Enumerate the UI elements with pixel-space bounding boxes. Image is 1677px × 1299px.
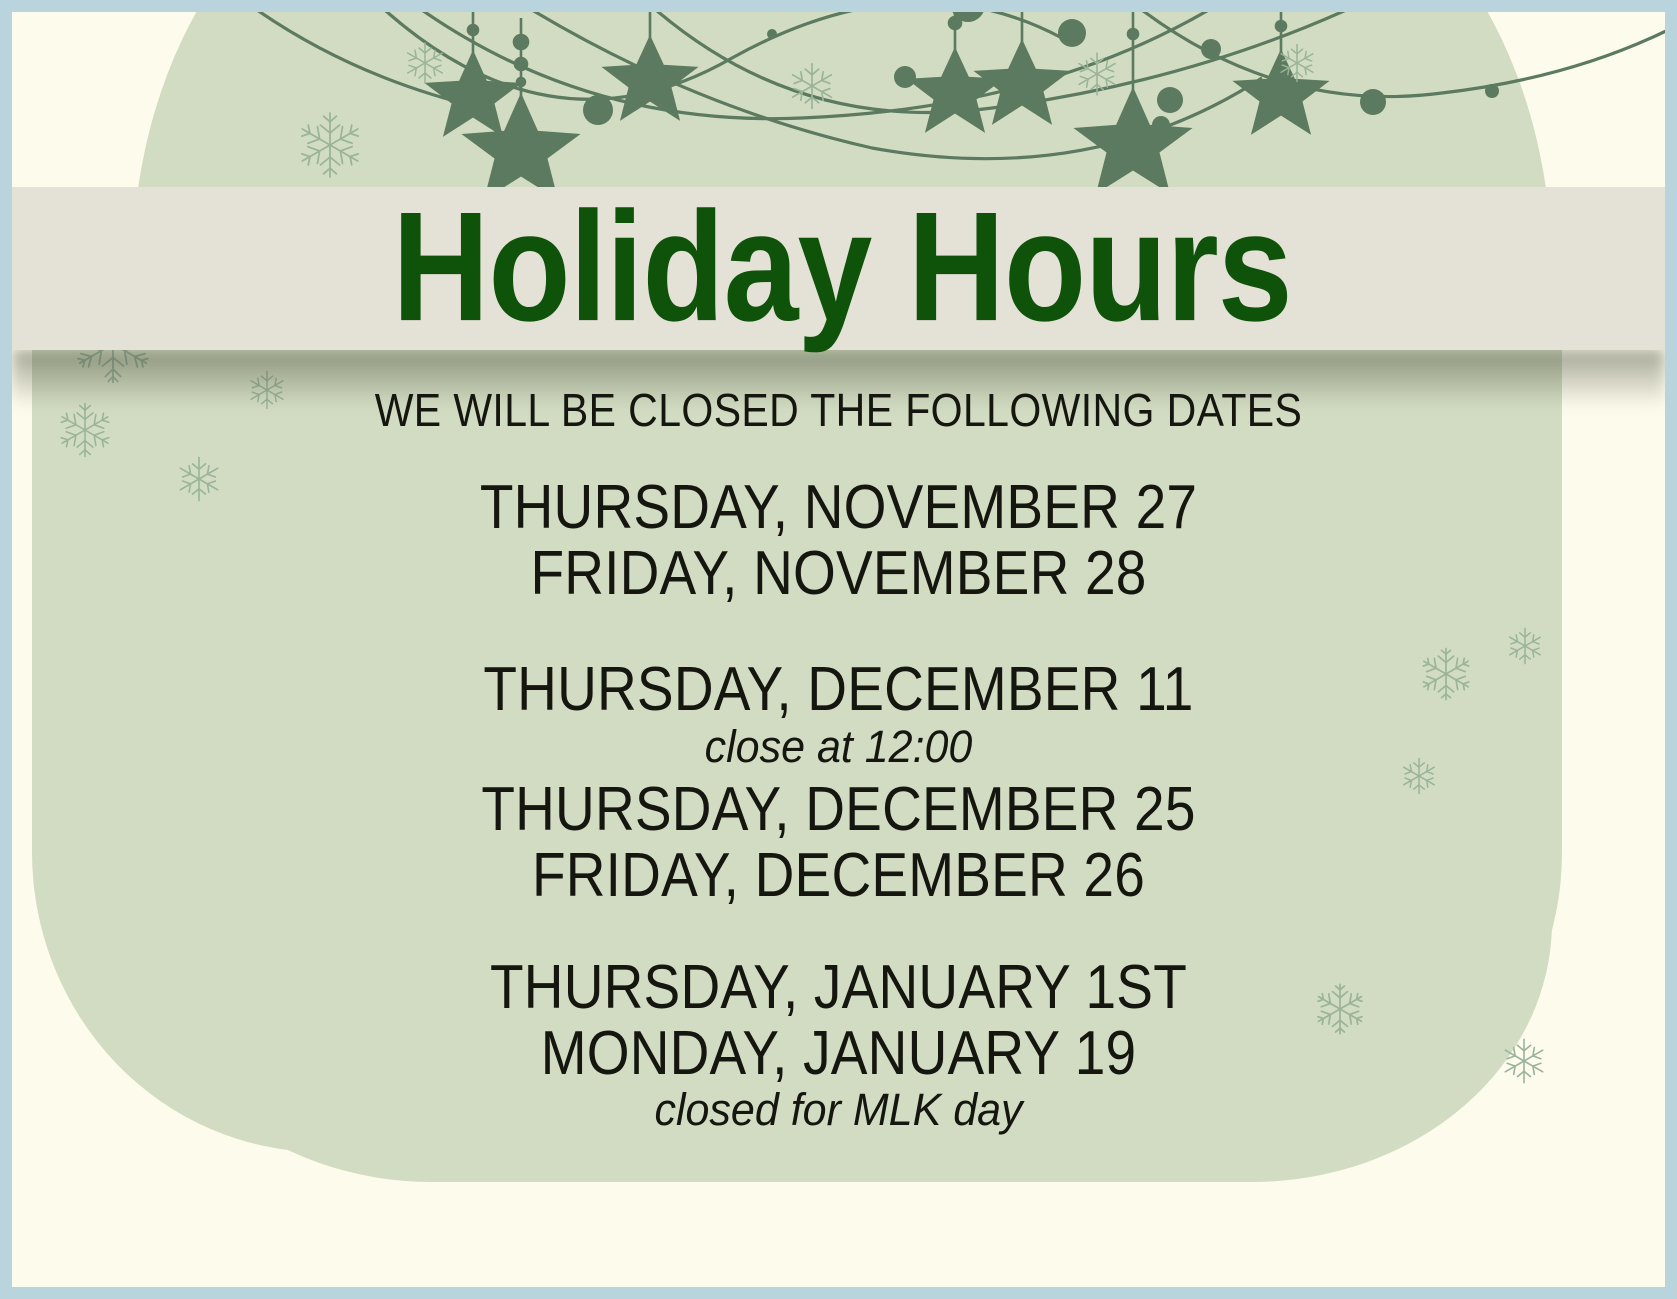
- closure-date: FRIDAY, NOVEMBER 28: [530, 541, 1146, 616]
- poster-inner-panel: Holiday Hours WE WILL BE CLOSED THE FOLL…: [12, 12, 1665, 1287]
- subheading: WE WILL BE CLOSED THE FOLLOWING DATES: [375, 384, 1303, 438]
- closure-note: close at 12:00: [705, 724, 973, 780]
- closure-date: FRIDAY, DECEMBER 26: [532, 843, 1145, 918]
- closure-note: closed for MLK day: [654, 1087, 1022, 1143]
- holiday-hours-poster: Holiday Hours WE WILL BE CLOSED THE FOLL…: [0, 0, 1677, 1299]
- closure-group-january: THURSDAY, JANUARY 1ST MONDAY, JANUARY 19…: [490, 955, 1187, 1141]
- closure-group-november: THURSDAY, NOVEMBER 27 FRIDAY, NOVEMBER 2…: [480, 475, 1197, 607]
- poster-content: WE WILL BE CLOSED THE FOLLOWING DATES TH…: [12, 12, 1665, 1287]
- closure-group-december: THURSDAY, DECEMBER 11 close at 12:00 THU…: [481, 657, 1195, 909]
